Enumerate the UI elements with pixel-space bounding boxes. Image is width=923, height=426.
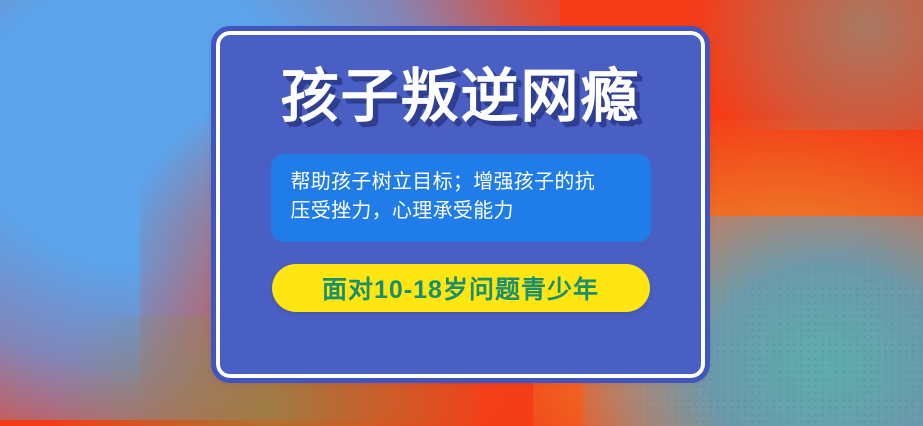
subtitle-panel: 帮助孩子树立目标；增强孩子的抗 压受挫力，心理承受能力	[271, 154, 651, 242]
subtitle-line-1: 帮助孩子树立目标；增强孩子的抗	[291, 168, 633, 197]
promo-card: 孩子叛逆网瘾 帮助孩子树立目标；增强孩子的抗 压受挫力，心理承受能力 面对10-…	[216, 31, 705, 378]
promo-banner: 孩子叛逆网瘾 帮助孩子树立目标；增强孩子的抗 压受挫力，心理承受能力 面对10-…	[0, 0, 923, 426]
cta-button-label: 面对10-18岁问题青少年	[322, 270, 599, 306]
cta-button[interactable]: 面对10-18岁问题青少年	[272, 264, 650, 312]
subtitle-line-2: 压受挫力，心理承受能力	[291, 197, 633, 226]
page-title: 孩子叛逆网瘾	[280, 67, 640, 128]
